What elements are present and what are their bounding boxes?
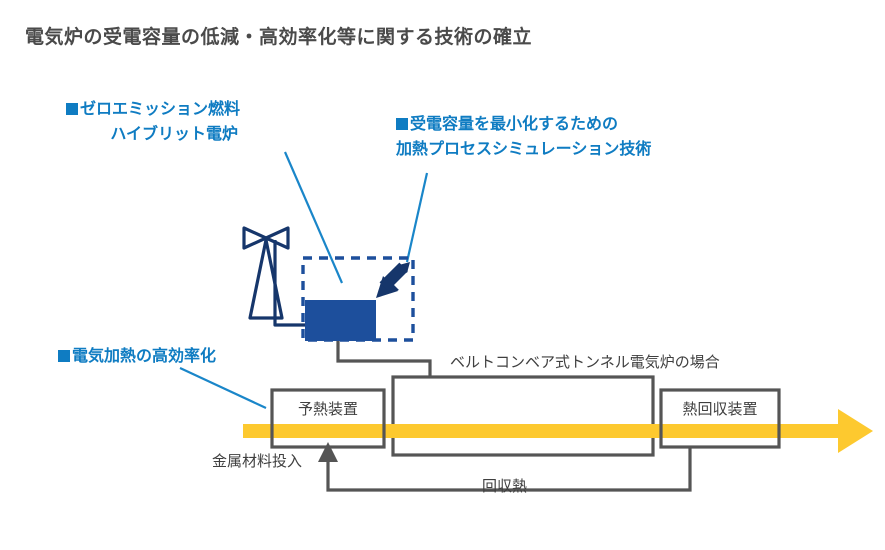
bullet-square-icon bbox=[66, 103, 78, 115]
tunnel-kiln-caption: ベルトコンベア式トンネル電気炉の場合 bbox=[450, 351, 720, 372]
diagram-canvas: 電気炉の受電容量の低減・高効率化等に関する技術の確立 bbox=[0, 0, 885, 550]
recovered-heat-arrow-head bbox=[318, 442, 338, 462]
diagram-artwork bbox=[0, 0, 885, 550]
bullet-square-icon bbox=[58, 350, 70, 362]
valve-bowtie-icon-right bbox=[266, 228, 288, 248]
heat-recovery-label: 熱回収装置 bbox=[664, 398, 776, 419]
material-input-label: 金属材料投入 bbox=[212, 450, 302, 471]
burner-stand-icon bbox=[250, 240, 282, 318]
leader-line-simulation bbox=[407, 173, 427, 262]
annotation-heat-line1: 電気加熱の高効率化 bbox=[72, 348, 216, 365]
annotation-zero-emission-fuel: ゼロエミッション燃料 ハイブリット電炉 bbox=[66, 97, 240, 147]
conveyor-band bbox=[243, 424, 853, 438]
preheater-label: 予熱装置 bbox=[276, 398, 380, 419]
leader-line-efficiency bbox=[180, 368, 266, 408]
annotation-electric-heating-efficiency: 電気加熱の高効率化 bbox=[58, 344, 216, 369]
annotation-fuel-line1: ゼロエミッション燃料 bbox=[80, 101, 240, 118]
annotation-heating-simulation: 受電容量を最小化するための 加熱プロセスシミュレーション技術 bbox=[396, 112, 651, 162]
conveyor-arrow-head bbox=[838, 409, 873, 453]
valve-bowtie-icon bbox=[244, 228, 266, 248]
leader-line-fuel bbox=[285, 152, 342, 283]
bullet-square-icon bbox=[396, 118, 408, 130]
annotation-sim-line1: 受電容量を最小化するための bbox=[410, 116, 618, 133]
exhaust-duct-pipe bbox=[338, 341, 430, 379]
annotation-fuel-line2: ハイブリット電炉 bbox=[66, 122, 240, 147]
annotation-sim-line2: 加熱プロセスシミュレーション技術 bbox=[396, 137, 651, 162]
electric-furnace-body bbox=[305, 300, 376, 341]
recovered-heat-label: 回収熱 bbox=[482, 475, 527, 496]
tunnel-kiln-box bbox=[393, 377, 653, 455]
